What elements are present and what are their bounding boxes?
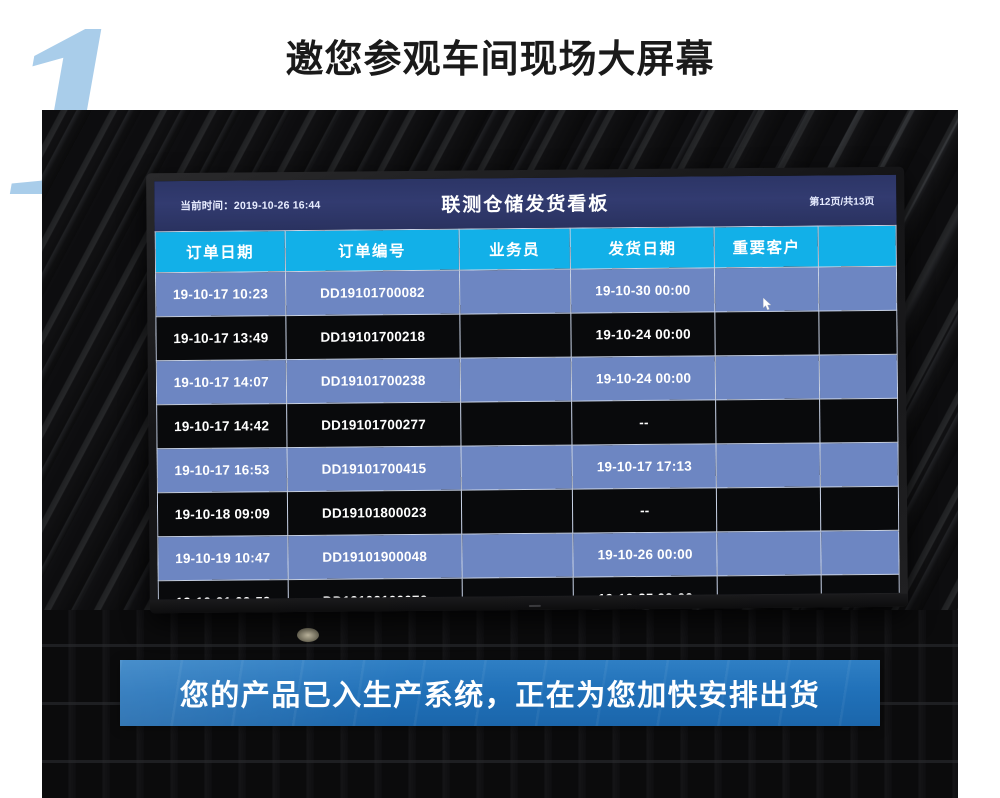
cell-ship-date: 19-10-24 00:00 — [571, 356, 716, 401]
cell-ship-date: -- — [572, 488, 717, 533]
cell-ship-date: 19-10-30 00:00 — [570, 268, 715, 313]
table-row[interactable]: 19-10-17 10:23 DD19101700082 19-10-30 00… — [155, 266, 896, 316]
cell-order-date: 19-10-17 16:53 — [157, 448, 287, 493]
cell-key-customer — [717, 531, 821, 576]
mouse-cursor-icon — [763, 298, 772, 311]
cell-ship-date: 19-10-24 00:00 — [571, 312, 716, 357]
cell-extra — [820, 398, 898, 443]
cell-order-no: DD19101900048 — [287, 534, 462, 580]
cell-order-date: 19-10-21 09:59 — [158, 580, 288, 600]
column-header-salesman[interactable]: 业务员 — [459, 228, 570, 270]
caption-banner: 您的产品已入生产系统，正在为您加快安排出货 — [120, 660, 880, 726]
ceiling-fixture — [297, 628, 319, 642]
cell-salesman — [462, 533, 574, 578]
dashboard-header: 当前时间：2019-10-26 16:44 联测仓储发货看板 第12页/共13页 — [154, 175, 896, 231]
cell-order-date: 19-10-17 10:23 — [155, 272, 285, 317]
table-header-row: 订单日期 订单编号 业务员 发货日期 重要客户 — [155, 225, 896, 272]
cell-extra — [819, 310, 897, 355]
table-row[interactable]: 19-10-19 10:47 DD19101900048 19-10-26 00… — [158, 530, 899, 580]
caption-text: 您的产品已入生产系统，正在为您加快安排出货 — [180, 672, 821, 714]
tv-screen: 当前时间：2019-10-26 16:44 联测仓储发货看板 第12页/共13页… — [154, 175, 900, 599]
page-indicator: 第12页/共13页 — [809, 192, 874, 208]
cell-key-customer — [716, 399, 820, 444]
column-header-order-date[interactable]: 订单日期 — [155, 231, 285, 273]
cell-key-customer — [715, 311, 819, 356]
cell-salesman — [460, 401, 572, 446]
cell-extra — [821, 530, 899, 575]
cell-order-no: DD19102100076 — [288, 578, 463, 599]
cell-key-customer — [716, 443, 820, 488]
column-header-ship-date[interactable]: 发货日期 — [570, 227, 715, 269]
cell-ship-date: 19-10-26 00:00 — [573, 532, 718, 577]
cell-key-customer — [717, 487, 821, 532]
cell-salesman — [460, 357, 572, 402]
cell-order-no: DD19101700277 — [286, 402, 461, 448]
column-header-key-customer[interactable]: 重要客户 — [715, 226, 819, 268]
cell-order-no: DD19101700082 — [285, 270, 460, 316]
table-body: 19-10-17 10:23 DD19101700082 19-10-30 00… — [155, 266, 899, 599]
cell-salesman — [461, 445, 573, 490]
cell-ship-date: -- — [572, 400, 717, 445]
cell-extra — [819, 266, 897, 311]
cell-order-date: 19-10-17 13:49 — [156, 316, 286, 361]
cell-salesman — [459, 269, 571, 314]
cell-salesman — [461, 489, 573, 534]
table-row[interactable]: 19-10-17 14:42 DD19101700277 -- — [157, 398, 898, 448]
table-row[interactable]: 19-10-18 09:09 DD19101800023 -- — [157, 486, 898, 536]
cell-order-date: 19-10-17 14:07 — [156, 360, 286, 405]
page-title: 邀您参观车间现场大屏幕 — [0, 28, 1000, 83]
cell-order-date: 19-10-19 10:47 — [158, 536, 288, 581]
cell-order-no: DD19101700415 — [287, 446, 462, 492]
column-header-extra[interactable] — [818, 225, 896, 267]
tv-power-led — [529, 605, 541, 607]
cell-order-no: DD19101800023 — [287, 490, 462, 536]
table-row[interactable]: 19-10-17 14:07 DD19101700238 19-10-24 00… — [156, 354, 897, 404]
cell-extra — [820, 442, 898, 487]
cell-key-customer — [716, 355, 820, 400]
wall-mounted-tv: 当前时间：2019-10-26 16:44 联测仓储发货看板 第12页/共13页… — [146, 167, 908, 614]
dashboard-title: 联测仓储发货看板 — [154, 186, 896, 219]
cell-ship-date: 19-10-17 17:13 — [572, 444, 717, 489]
cell-salesman — [460, 313, 572, 358]
shipping-board-table: 订单日期 订单编号 业务员 发货日期 重要客户 19-10-17 10:23 D… — [155, 225, 900, 599]
cell-order-date: 19-10-18 09:09 — [157, 492, 287, 537]
table-row[interactable]: 19-10-17 13:49 DD19101700218 19-10-24 00… — [156, 310, 897, 360]
cell-extra — [821, 486, 899, 531]
cell-extra — [819, 354, 897, 399]
cell-order-date: 19-10-17 14:42 — [157, 404, 287, 449]
column-header-order-no[interactable]: 订单编号 — [285, 229, 459, 272]
table-row[interactable]: 19-10-17 16:53 DD19101700415 19-10-17 17… — [157, 442, 898, 492]
cell-order-no: DD19101700238 — [286, 358, 461, 404]
cell-order-no: DD19101700218 — [286, 314, 461, 360]
